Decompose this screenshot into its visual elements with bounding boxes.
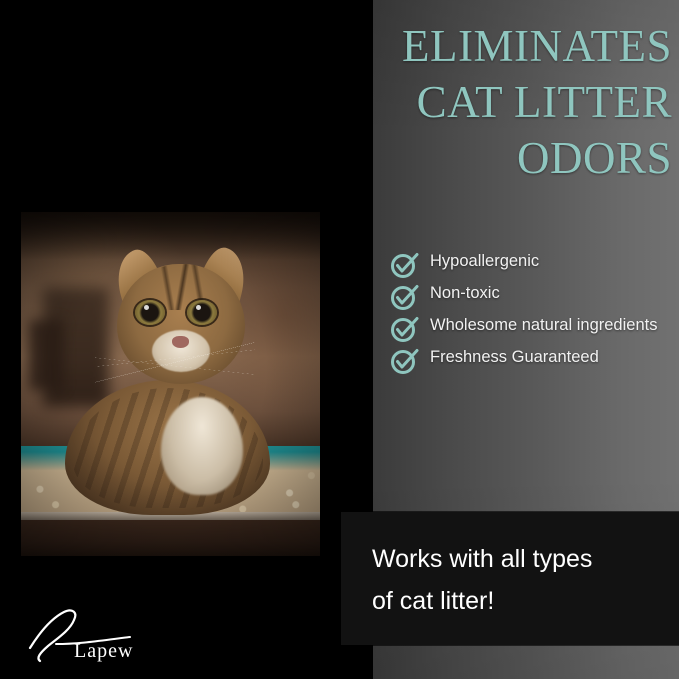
page-title: ELIMINATES CAT LITTER ODORS	[292, 18, 672, 186]
benefits-list: Hypoallergenic Non-toxic Wholesome natur…	[390, 250, 675, 378]
product-poster: ELIMINATES CAT LITTER ODORS	[0, 0, 679, 679]
benefit-label: Hypoallergenic	[430, 250, 539, 273]
list-item: Non-toxic	[390, 282, 675, 310]
benefit-label: Wholesome natural ingredients	[430, 314, 657, 337]
list-item: Wholesome natural ingredients	[390, 314, 675, 342]
callout-box: Works with all types of cat litter!	[341, 512, 679, 645]
photo-background	[21, 212, 320, 556]
kitten-chest	[161, 397, 243, 495]
kitten-left-eye	[135, 300, 165, 325]
kitten-right-eye	[187, 300, 217, 325]
brand-logo: Lapew	[26, 604, 166, 666]
callout-text: Works with all types of cat litter!	[372, 538, 662, 622]
check-circle-icon	[390, 283, 420, 311]
kitten-whiskers	[95, 340, 255, 384]
check-circle-icon	[390, 347, 420, 375]
list-item: Hypoallergenic	[390, 250, 675, 278]
check-circle-icon	[390, 315, 420, 343]
kitten-illustration	[21, 212, 320, 556]
list-item: Freshness Guaranteed	[390, 346, 675, 374]
brand-name: Lapew	[74, 640, 133, 663]
check-circle-icon	[390, 251, 420, 279]
benefit-label: Freshness Guaranteed	[430, 346, 599, 369]
kitten-photo	[21, 212, 320, 556]
benefit-label: Non-toxic	[430, 282, 500, 305]
